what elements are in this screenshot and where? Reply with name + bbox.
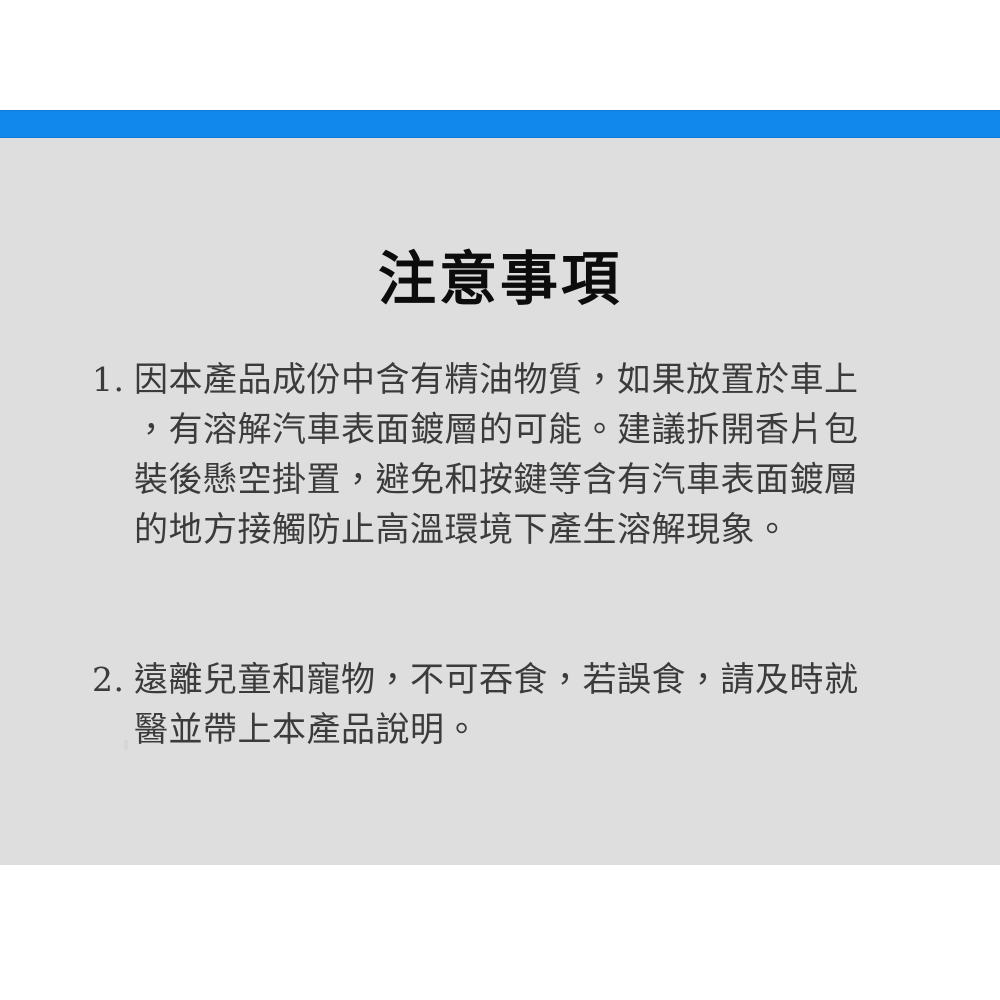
note-body: 因本產品成份中含有精油物質，如果放置於車上 ，有溶解汽車表面鍍層的可能。建議拆開…	[134, 355, 912, 555]
note-line: ，有溶解汽車表面鍍層的可能。建議拆開香片包	[134, 405, 912, 455]
note-line: 裝後懸空掛置，避免和按鍵等含有汽車表面鍍層	[134, 455, 912, 505]
notes-list: 1. 因本產品成份中含有精油物質，如果放置於車上 ，有溶解汽車表面鍍層的可能。建…	[92, 355, 912, 755]
note-marker: 1.	[92, 355, 134, 405]
blue-accent-bar	[0, 110, 1000, 138]
note-body: 遠離兒童和寵物，不可吞食，若誤食，請及時就 醫並帶上本產品說明。	[134, 655, 912, 755]
note-marker: 2.	[92, 655, 134, 705]
note-line: 遠離兒童和寵物，不可吞食，若誤食，請及時就	[134, 655, 912, 705]
note-line: 的地方接觸防止高溫環境下產生溶解現象。	[134, 505, 912, 555]
note-line: 醫並帶上本產品說明。	[134, 705, 912, 755]
page-title: 注意事項	[0, 247, 1000, 311]
bottom-margin-band	[0, 865, 1000, 1000]
list-item: 1. 因本產品成份中含有精油物質，如果放置於車上 ，有溶解汽車表面鍍層的可能。建…	[92, 355, 912, 555]
product-notice-slide: 注意事項 1. 因本產品成份中含有精油物質，如果放置於車上 ，有溶解汽車表面鍍層…	[0, 0, 1000, 1000]
note-line: 因本產品成份中含有精油物質，如果放置於車上	[134, 355, 912, 405]
top-margin-band	[0, 0, 1000, 110]
list-item: 2. 遠離兒童和寵物，不可吞食，若誤食，請及時就 醫並帶上本產品說明。	[92, 655, 912, 755]
